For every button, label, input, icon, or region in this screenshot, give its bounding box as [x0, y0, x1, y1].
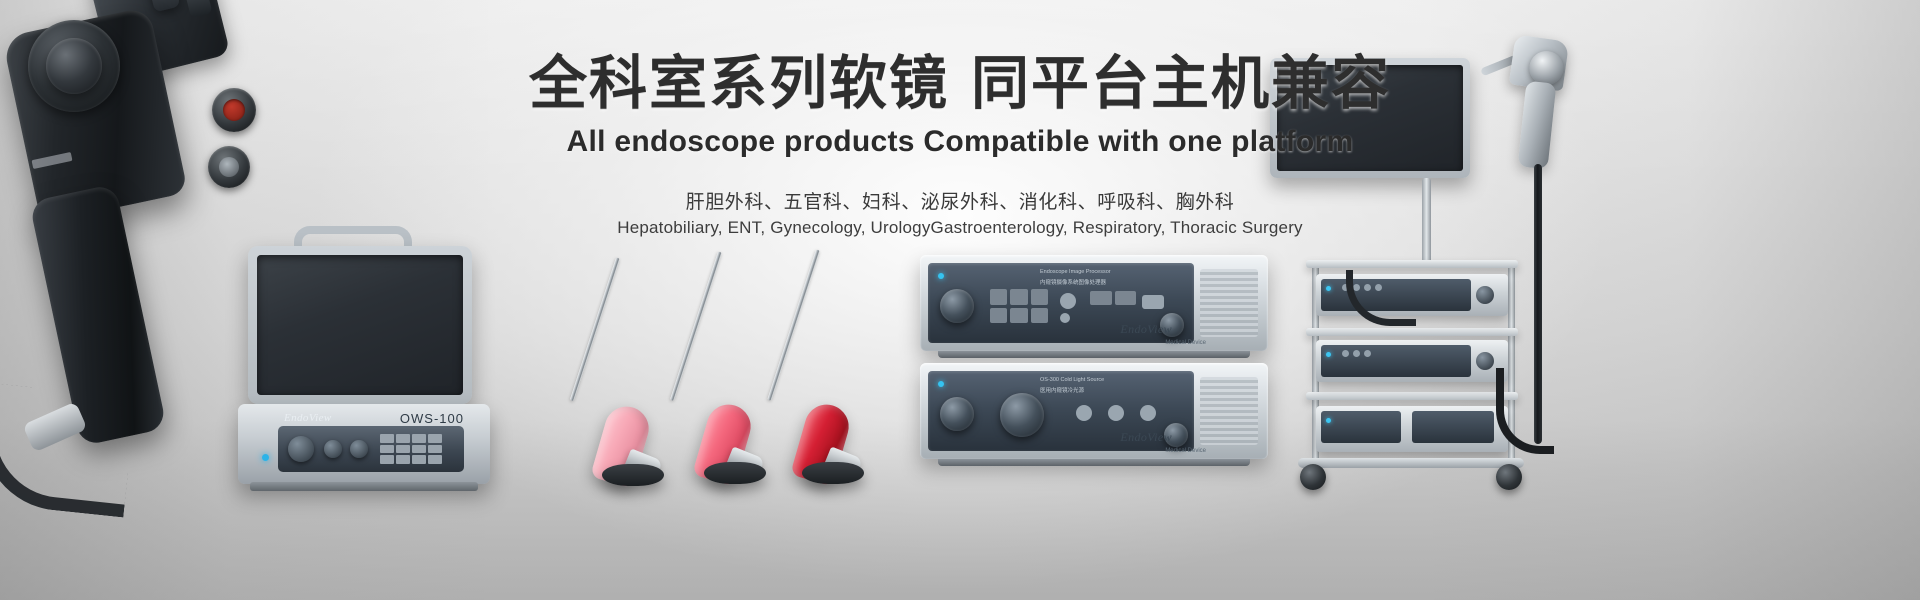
- light-source-brightness-dial: [1000, 393, 1044, 437]
- processor-button-pad: [990, 289, 1048, 323]
- workstation-monitor: [248, 246, 472, 404]
- cart-unit-light-source: [1316, 340, 1508, 382]
- light-source-power-dial: [940, 397, 974, 431]
- light-source-model-label-cn: 医用内窥镜冷光源: [1040, 386, 1084, 394]
- specialties-en: Hepatobiliary, ENT, Gynecology, UrologyG…: [0, 218, 1920, 238]
- cart-unit-insufflator: [1316, 406, 1508, 452]
- workstation-keypad: [380, 434, 442, 464]
- image-processor-unit: Endoscope Image Processor 内窥镜摄像系统图像处理器 E…: [920, 255, 1268, 351]
- workstation-screen: [257, 255, 463, 395]
- processor-feet: [938, 351, 1250, 358]
- processor-indicator-a: [1060, 293, 1076, 309]
- workstation-knob-2: [324, 440, 342, 458]
- headline-part-2: 同平台主机兼容: [971, 51, 1391, 116]
- workstation-power-led: [262, 454, 269, 461]
- workstation-base-unit: EndoView OWS-100: [238, 404, 490, 484]
- light-source-brand-label: EndoView: [1120, 430, 1172, 445]
- subheadline-en: All endoscope products Compatible with o…: [0, 125, 1920, 159]
- workstation-main-knob: [288, 436, 314, 462]
- processor-vent-grille: [1200, 269, 1258, 337]
- light-source-model-label-en: OS-300 Cold Light Source: [1040, 377, 1104, 383]
- promo-banner: EndoView OWS-100: [0, 0, 1920, 600]
- cart-unit-light-controls: [1342, 350, 1371, 357]
- light-source-sub-label: Medical Device: [1165, 448, 1206, 454]
- light-source-indicator-b: [1108, 405, 1124, 421]
- cart-unit-light-led: [1326, 352, 1331, 357]
- light-source-indicator-c: [1140, 405, 1156, 421]
- processor-model-label-cn: 内窥镜摄像系统图像处理器: [1040, 278, 1106, 286]
- light-source-power-led: [938, 381, 944, 387]
- processor-indicator-b: [1060, 313, 1070, 323]
- instrument-display-base: [802, 462, 864, 484]
- cart-unit-insufflator-panel: [1321, 411, 1401, 443]
- endoscope-insertion-tube: [0, 382, 136, 517]
- banner-text-block: 全科室系列软镜同平台主机兼容 All endoscope products Co…: [0, 52, 1920, 238]
- cart-unit-insufflator-display: [1412, 411, 1494, 443]
- workstation-brand-label: EndoView: [284, 412, 332, 424]
- light-source-indicator-a: [1076, 405, 1092, 421]
- light-source-feet: [938, 459, 1250, 466]
- processor-usb-port: [1142, 295, 1164, 309]
- headline-part-1: 全科室系列软镜: [529, 51, 949, 116]
- processor-model-label-en: Endoscope Image Processor: [1040, 269, 1111, 275]
- instrument-shaft: [767, 249, 820, 401]
- specialties-cn: 肝胆外科、五官科、妇科、泌尿外科、消化科、呼吸科、胸外科: [0, 187, 1920, 214]
- cart-unit-camera-led: [1326, 286, 1331, 291]
- laparoscopic-instrument-red: [702, 250, 856, 490]
- cart-connection-cable: [1346, 270, 1416, 326]
- workstation-model-label: OWS-100: [400, 411, 464, 426]
- processor-sub-label: Medical Device: [1165, 340, 1206, 346]
- processor-aux-buttons: [1090, 291, 1136, 305]
- cart-scope-tube-coil: [1496, 368, 1554, 454]
- light-source-unit: OS-300 Cold Light Source 医用内窥镜冷光源 EndoVi…: [920, 363, 1268, 459]
- headline: 全科室系列软镜同平台主机兼容: [0, 52, 1920, 117]
- processor-main-dial: [940, 289, 974, 323]
- cart-unit-insufflator-led: [1326, 418, 1331, 423]
- workstation-knob-3: [350, 440, 368, 458]
- processor-brand-label: EndoView: [1120, 322, 1172, 337]
- cart-wheel-left: [1300, 464, 1326, 490]
- processor-power-led: [938, 273, 944, 279]
- light-source-vent-grille: [1200, 377, 1258, 445]
- processor-stack: Endoscope Image Processor 内窥镜摄像系统图像处理器 E…: [920, 255, 1272, 470]
- cart-base-bar: [1298, 458, 1524, 468]
- workstation-foot: [250, 482, 478, 491]
- workstation-product-image: EndoView OWS-100: [238, 232, 506, 492]
- cart-wheel-right: [1496, 464, 1522, 490]
